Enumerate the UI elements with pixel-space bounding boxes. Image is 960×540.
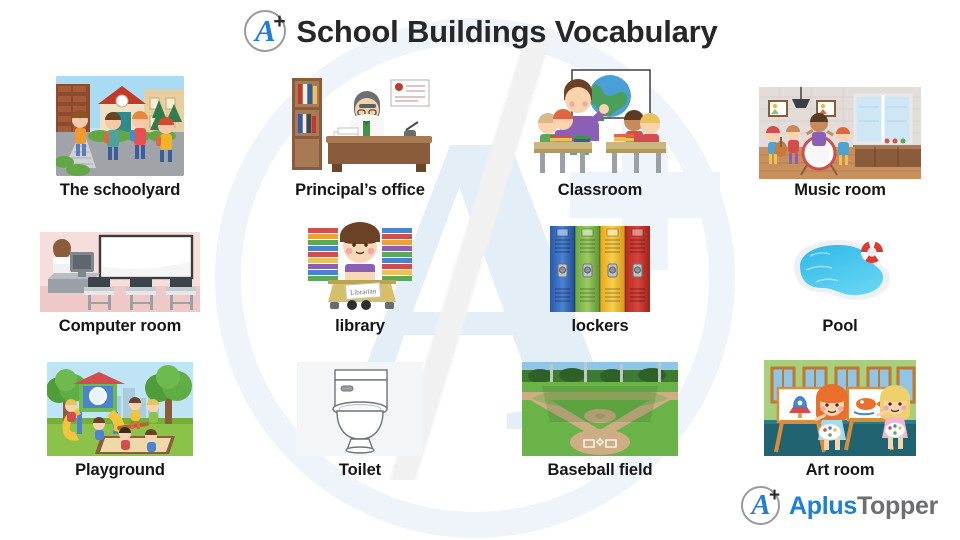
footer-logo-icon: A + bbox=[740, 485, 786, 527]
vocab-label: Principal’s office bbox=[295, 181, 425, 200]
library-illustration: Librarian bbox=[304, 220, 416, 312]
vocab-label: library bbox=[335, 317, 385, 336]
vocab-label: Classroom bbox=[558, 181, 642, 200]
baseball-field-illustration bbox=[522, 362, 678, 456]
page-header: A + School Buildings Vocabulary bbox=[0, 6, 960, 58]
vocab-card-principals-office[interactable]: Principal’s office bbox=[240, 60, 480, 200]
vocabulary-row: Playground Toilet bbox=[0, 342, 960, 480]
lockers-illustration bbox=[550, 226, 650, 312]
toilet-illustration bbox=[297, 362, 423, 456]
schoolyard-illustration bbox=[56, 76, 184, 176]
vocab-label: Pool bbox=[822, 317, 857, 336]
aplustopper-footer-logo[interactable]: A + AplusTopper bbox=[740, 484, 938, 528]
vocab-label: Baseball field bbox=[548, 461, 653, 480]
vocab-label: Computer room bbox=[59, 317, 181, 336]
footer-brand-text: AplusTopper bbox=[789, 492, 938, 521]
vocab-card-toilet[interactable]: Toilet bbox=[240, 342, 480, 480]
vocabulary-row: Computer room bbox=[0, 208, 960, 336]
vocab-label: Toilet bbox=[339, 461, 381, 480]
classroom-illustration bbox=[530, 68, 670, 176]
footer-brand-secondary: Topper bbox=[857, 492, 938, 520]
vocab-card-baseball-field[interactable]: Baseball field bbox=[480, 342, 720, 480]
vocab-label: Art room bbox=[806, 461, 875, 480]
vocab-card-lockers[interactable]: lockers bbox=[480, 208, 720, 336]
vocab-label: lockers bbox=[571, 317, 628, 336]
vocabulary-row: The schoolyard bbox=[0, 60, 960, 200]
footer-brand-primary: Aplus bbox=[789, 492, 857, 520]
music-room-illustration bbox=[759, 87, 921, 179]
aplustopper-logo-icon: A + bbox=[242, 9, 292, 55]
vocabulary-grid: The schoolyard bbox=[0, 60, 960, 480]
art-room-illustration bbox=[764, 360, 916, 456]
vocab-label: The schoolyard bbox=[60, 181, 181, 200]
vocab-card-playground[interactable]: Playground bbox=[0, 342, 240, 480]
vocab-card-music-room[interactable]: Music room bbox=[720, 60, 960, 200]
vocab-card-pool[interactable]: Pool bbox=[720, 208, 960, 336]
vocab-card-computer-room[interactable]: Computer room bbox=[0, 208, 240, 336]
vocab-card-classroom[interactable]: Classroom bbox=[480, 60, 720, 200]
pool-illustration bbox=[776, 232, 904, 312]
vocab-card-schoolyard[interactable]: The schoolyard bbox=[0, 60, 240, 200]
page-title: School Buildings Vocabulary bbox=[296, 14, 717, 50]
footer-logo-plus-icon: + bbox=[769, 486, 780, 505]
principals-office-illustration bbox=[286, 74, 434, 176]
playground-illustration bbox=[47, 362, 193, 456]
logo-plus-icon: + bbox=[273, 11, 285, 32]
vocab-card-library[interactable]: Librarian library bbox=[240, 208, 480, 336]
vocab-label: Playground bbox=[75, 461, 165, 480]
vocab-label: Music room bbox=[794, 181, 886, 200]
computer-room-illustration bbox=[40, 232, 200, 312]
vocab-card-art-room[interactable]: Art room bbox=[720, 342, 960, 480]
